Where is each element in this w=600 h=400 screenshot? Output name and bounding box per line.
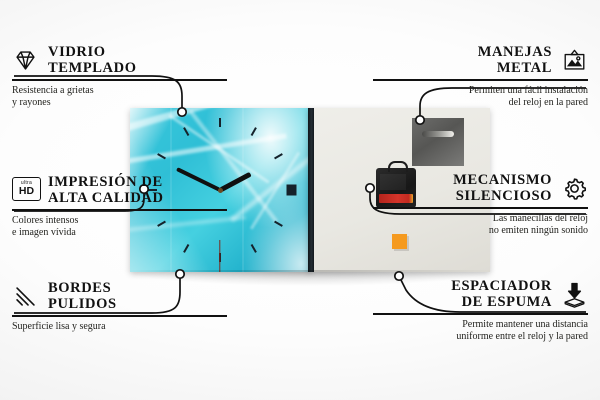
callout-rule — [373, 207, 588, 209]
polished-edge-lines-icon — [12, 283, 39, 310]
gear-icon — [561, 175, 588, 202]
callout-title: ESPACIADORDE ESPUMA — [451, 278, 552, 310]
callout-rule — [12, 209, 227, 211]
clock-tick — [274, 153, 283, 159]
clock-tick — [287, 185, 297, 196]
callout-espaciador-espuma: ESPACIADORDE ESPUMA Permite mantener una… — [373, 278, 588, 344]
callout-manejas-metal: MANEJASMETAL Permiten una fácil instalac… — [373, 44, 588, 110]
callout-description: Permite mantener una distanciauniforme e… — [373, 319, 588, 344]
callout-header: ultra HD IMPRESIÓN DEALTA CALIDAD — [12, 174, 227, 206]
callout-header: ESPACIADORDE ESPUMA — [373, 278, 588, 310]
callout-title: BORDESPULIDOS — [48, 280, 117, 312]
hd-label: HD — [19, 186, 34, 197]
hanger-slot — [422, 131, 454, 137]
callout-rule — [373, 313, 588, 315]
callout-header: MANEJASMETAL — [373, 44, 588, 76]
callout-title: MANEJASMETAL — [478, 44, 552, 76]
callout-rule — [12, 315, 227, 317]
callout-header: VIDRIOTEMPLADO — [12, 44, 227, 76]
callout-description: Superficie lisa y segura — [12, 321, 227, 334]
arrow-down-onto-pad-icon — [561, 281, 588, 308]
callout-bordes-pulidos: BORDESPULIDOS Superficie lisa y segura — [12, 280, 227, 333]
clock-tick — [183, 127, 189, 136]
callout-rule — [373, 79, 588, 81]
diamond-icon — [12, 47, 39, 74]
callout-header: MECANISMOSILENCIOSO — [373, 172, 588, 204]
callout-header: BORDESPULIDOS — [12, 280, 227, 312]
callout-title: VIDRIOTEMPLADO — [48, 44, 137, 76]
callout-description: Resistencia a grietasy rayones — [12, 85, 227, 110]
clock-tick — [183, 244, 189, 253]
clock-tick — [219, 118, 221, 127]
metal-hanger-plate — [412, 118, 464, 166]
callout-vidrio-templado: VIDRIOTEMPLADO Resistencia a grietasy ra… — [12, 44, 227, 110]
callout-description: Las manecillas del relojno emiten ningún… — [373, 213, 588, 238]
callout-title: MECANISMOSILENCIOSO — [453, 172, 552, 204]
clock-tick — [157, 153, 166, 159]
callout-rule — [12, 79, 227, 81]
hanger-loop — [388, 161, 408, 172]
clock-tick — [251, 127, 257, 136]
clock-tick — [274, 221, 283, 227]
clock-tick — [251, 244, 257, 253]
picture-frame-hanger-icon — [561, 47, 588, 74]
callout-title: IMPRESIÓN DEALTA CALIDAD — [48, 174, 164, 206]
callout-mecanismo-silencioso: MECANISMOSILENCIOSO Las manecillas del r… — [373, 172, 588, 238]
callout-description: Colores intensose imagen vívida — [12, 215, 227, 240]
ultra-hd-icon: ultra HD — [12, 177, 39, 204]
callout-description: Permiten una fácil instalacióndel reloj … — [373, 85, 588, 110]
callout-impresion-alta-calidad: ultra HD IMPRESIÓN DEALTA CALIDAD Colore… — [12, 174, 227, 240]
infographic-canvas: VIDRIOTEMPLADO Resistencia a grietasy ra… — [0, 0, 600, 400]
